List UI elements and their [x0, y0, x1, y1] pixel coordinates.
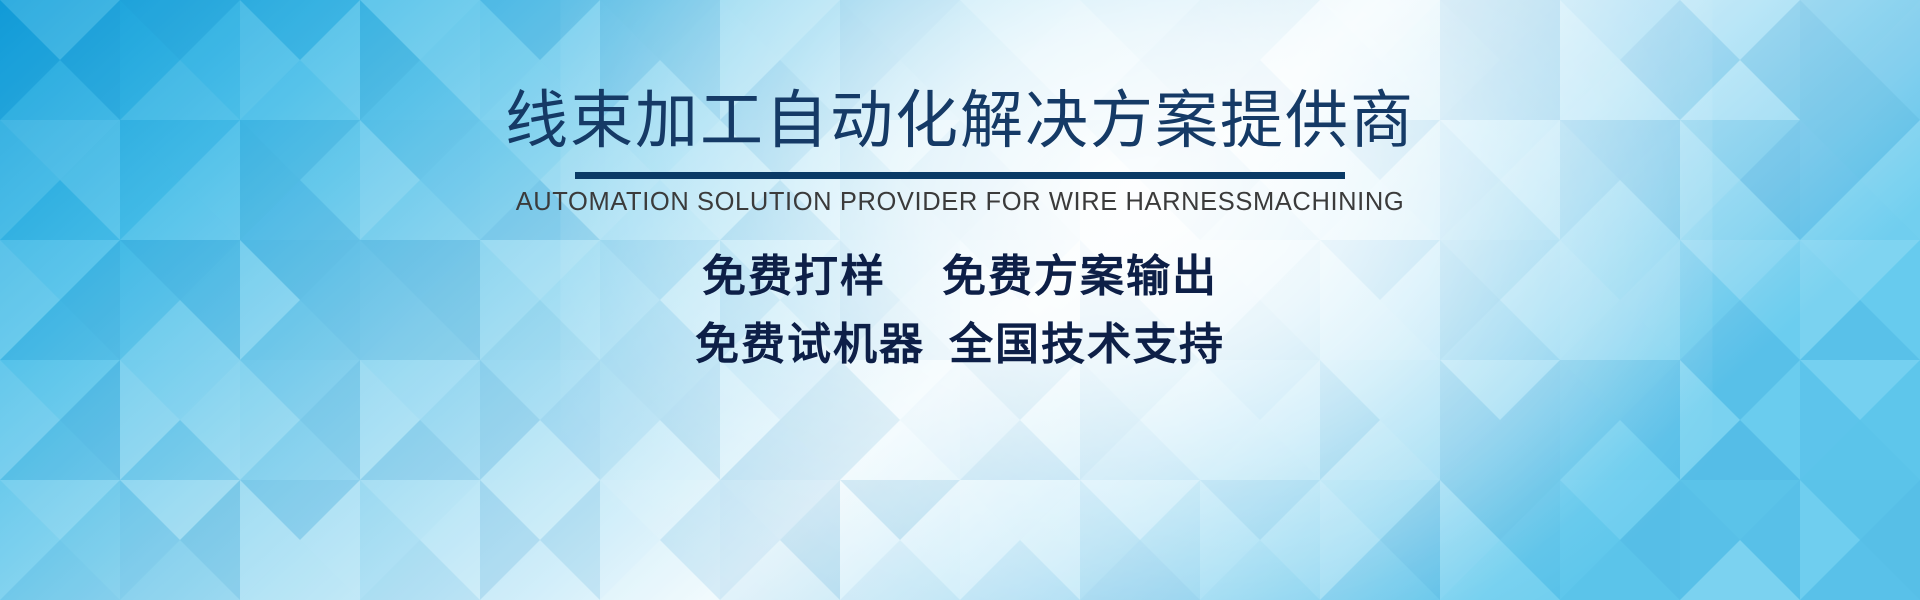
hero-banner: 线束加工自动化解决方案提供商 AUTOMATION SOLUTION PROVI… [0, 0, 1920, 600]
banner-subline-english: AUTOMATION SOLUTION PROVIDER FOR WIRE HA… [516, 188, 1405, 217]
feature-item-free-sample: 免费打样 [702, 252, 886, 301]
feature-item-national-support: 全国技术支持 [949, 320, 1225, 369]
banner-headline: 线束加工自动化解决方案提供商 [505, 88, 1415, 154]
feature-list: 免费打样免费方案输出 免费试机器全国技术支持 [695, 243, 1225, 379]
feature-row: 免费打样免费方案输出 [702, 243, 1218, 311]
feature-row: 免费试机器全国技术支持 [695, 311, 1225, 379]
banner-content: 线束加工自动化解决方案提供商 AUTOMATION SOLUTION PROVI… [0, 0, 1920, 600]
feature-item-free-plan: 免费方案输出 [942, 252, 1218, 301]
feature-item-free-trial: 免费试机器 [695, 320, 925, 369]
divider-rule [575, 172, 1345, 179]
